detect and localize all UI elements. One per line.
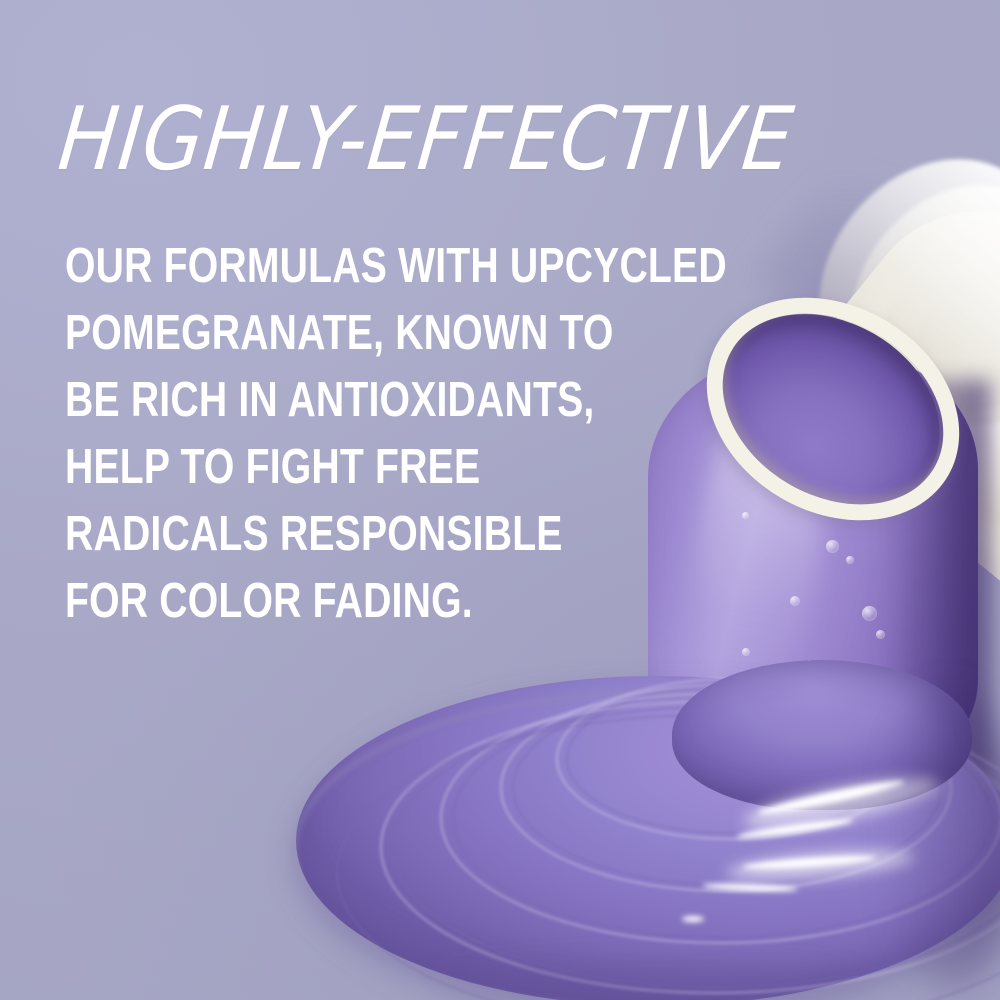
- body-line: FOR COLOR FADING.: [65, 568, 727, 635]
- body-line: OUR FORMULAS WITH UPCYCLED: [65, 233, 727, 300]
- marketing-graphic: HIGHLY-EFFECTIVE OUR FORMULAS WITH UPCYC…: [0, 0, 1000, 1000]
- body-line: POMEGRANATE, KNOWN TO: [65, 300, 727, 367]
- body-line: BE RICH IN ANTIOXIDANTS,: [65, 367, 727, 434]
- body-line: RADICALS RESPONSIBLE: [65, 501, 727, 568]
- body-paragraph: OUR FORMULAS WITH UPCYCLED POMEGRANATE, …: [65, 233, 727, 635]
- body-line: HELP TO FIGHT FREE: [65, 434, 727, 501]
- page-title: HIGHLY-EFFECTIVE: [55, 96, 798, 183]
